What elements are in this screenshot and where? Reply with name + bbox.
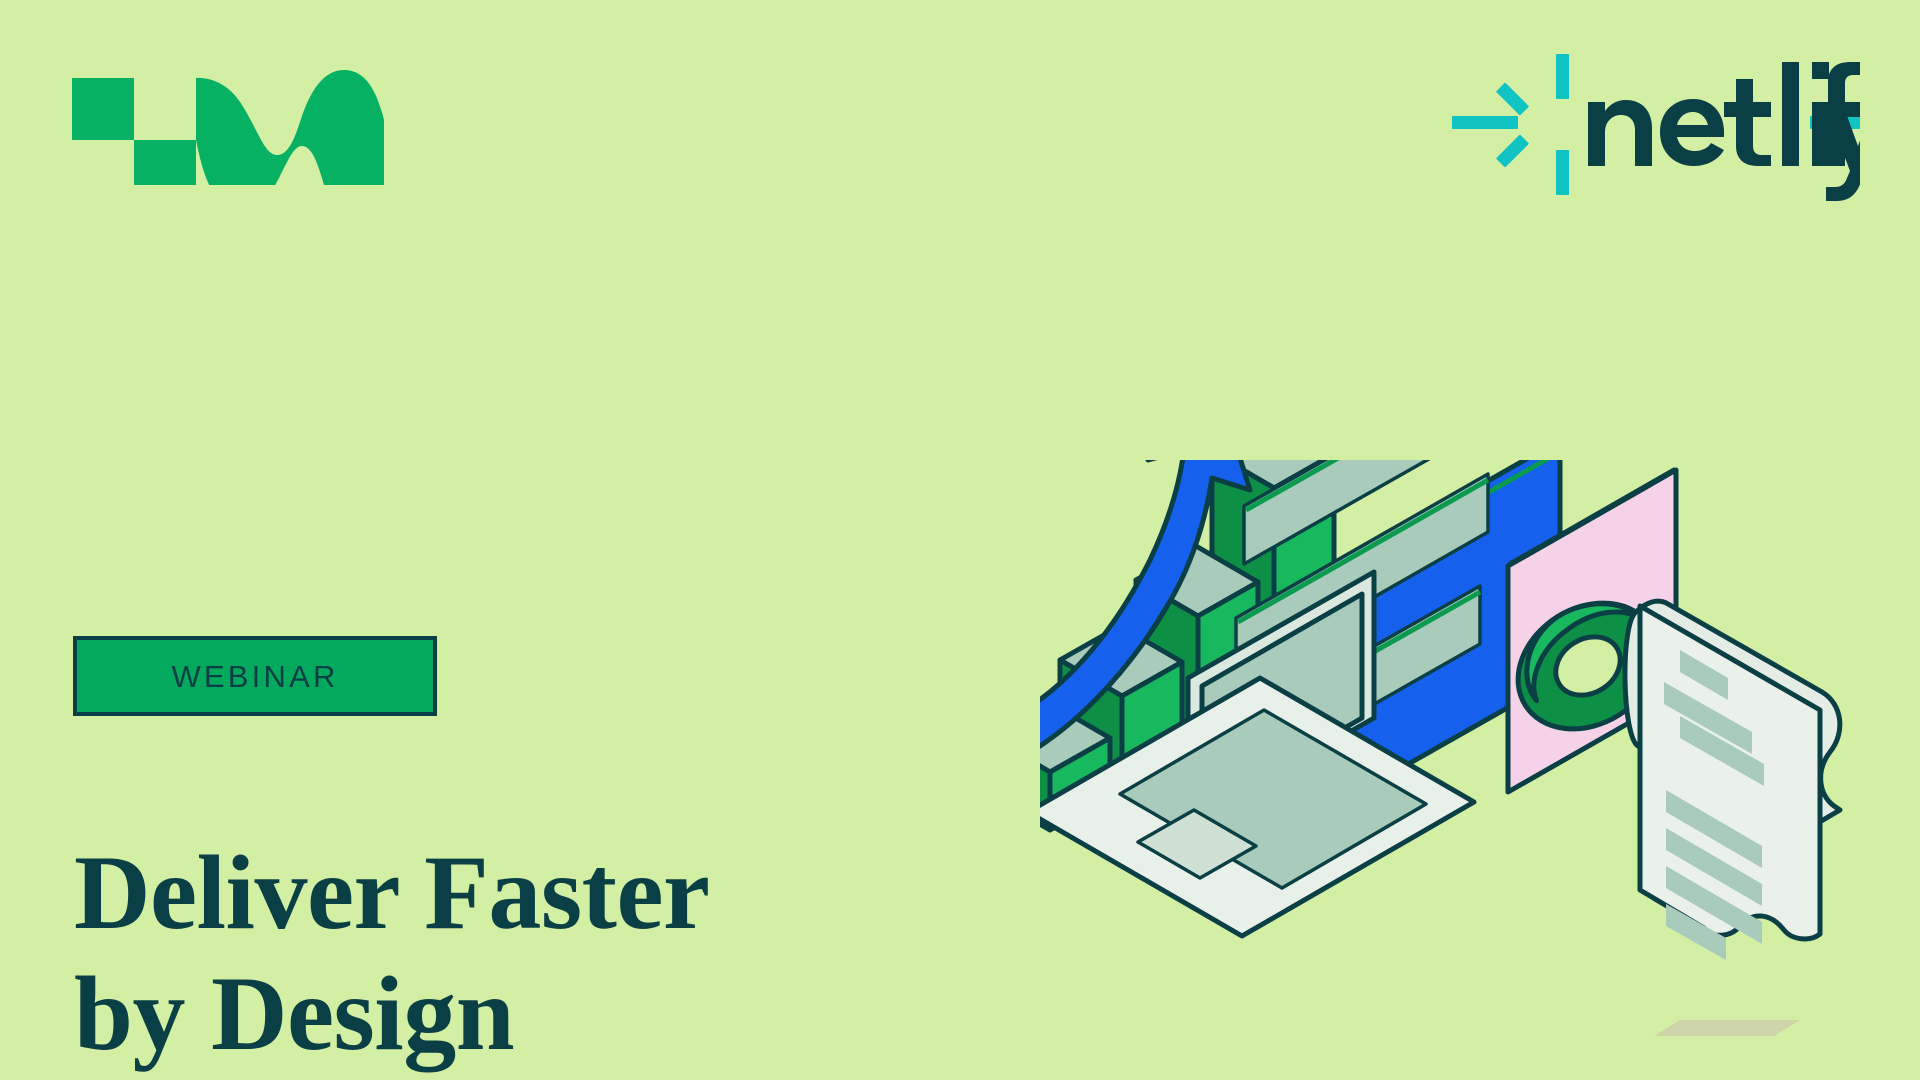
page-title-line-2: by Design xyxy=(74,954,894,1075)
partner-logo-mark xyxy=(72,60,384,185)
badge-label: WEBINAR xyxy=(171,661,338,692)
webinar-slide: WEBINAR Deliver Faster by Design .ink { … xyxy=(0,0,1920,1080)
page-title: Deliver Faster by Design xyxy=(74,833,894,1075)
netlify-logo xyxy=(1452,42,1860,202)
isometric-analytics-scene: .ink { stroke:#0b3f46; stroke-width:5; s… xyxy=(1040,460,1920,1080)
page-title-line-1: Deliver Faster xyxy=(74,833,894,954)
document-sheet xyxy=(1625,601,1840,960)
netlify-wordmark xyxy=(1588,62,1860,201)
status-badge: WEBINAR xyxy=(73,636,437,716)
